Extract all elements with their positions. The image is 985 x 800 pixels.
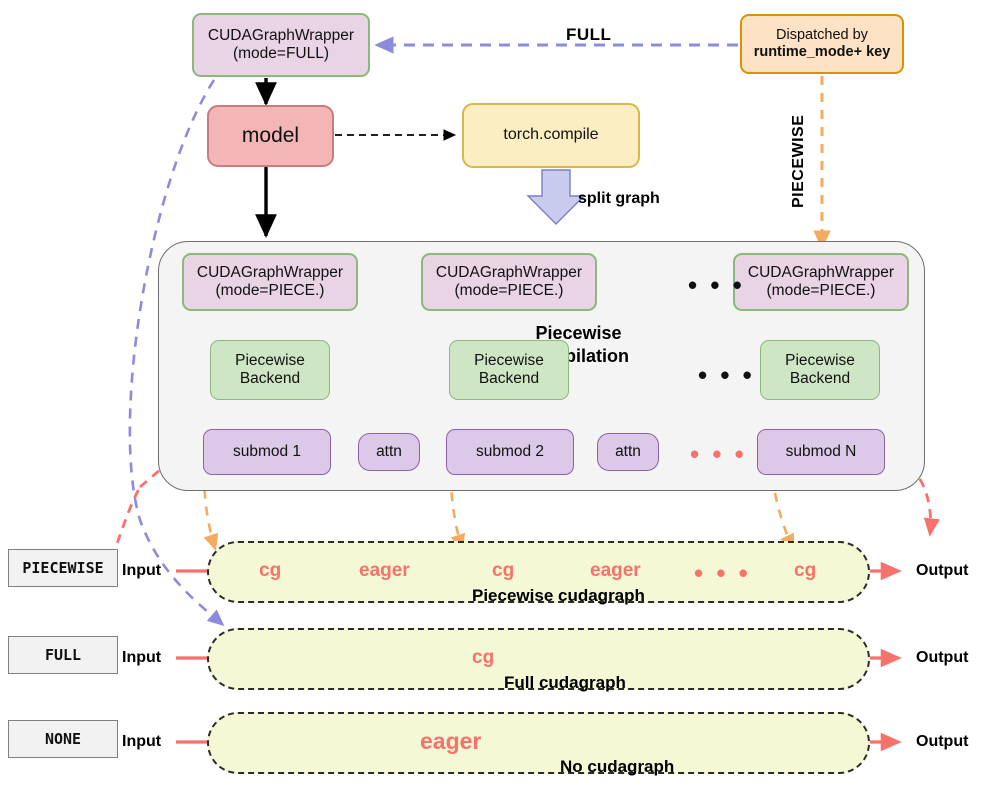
- piecewise-backend-n-box[interactable]: Piecewise Backend: [760, 340, 880, 400]
- submod-n-label: submod N: [786, 443, 857, 461]
- submod-2-box[interactable]: submod 2: [446, 429, 574, 475]
- backend-2-line1: Piecewise: [474, 352, 544, 370]
- diagram-canvas: CUDAGraphWrapper (mode=FULL) model torch…: [0, 0, 985, 800]
- lane-piecewise-step-4: eager: [590, 560, 641, 582]
- attn-1-box[interactable]: attn: [358, 433, 420, 471]
- submod-n-box[interactable]: submod N: [757, 429, 885, 475]
- wrapper-full-line2: (mode=FULL): [233, 45, 329, 63]
- mode-label-none[interactable]: NONE: [8, 720, 118, 758]
- lane-piecewise-output: Output: [916, 562, 968, 580]
- lane-piecewise-step-6: cg: [794, 560, 816, 582]
- torch-compile-box[interactable]: torch.compile: [462, 103, 640, 168]
- lane-piecewise-step-5: • • •: [694, 560, 751, 586]
- lane-piecewise-step-2: eager: [359, 560, 410, 582]
- submod-2-label: submod 2: [476, 443, 544, 461]
- torch-compile-label: torch.compile: [503, 126, 598, 144]
- piecewise-edge-label: PIECEWISE: [790, 115, 808, 208]
- model-box[interactable]: model: [207, 105, 334, 167]
- lane-piecewise-step-3: cg: [492, 560, 514, 582]
- backend-n-line1: Piecewise: [785, 352, 855, 370]
- lane-piecewise-step-1: cg: [259, 560, 281, 582]
- panel-ellipsis-submods: • • •: [690, 441, 747, 467]
- lane-none-input: Input: [122, 733, 161, 751]
- panel-ellipsis-wrappers: • • •: [688, 272, 745, 298]
- mode-label-full[interactable]: FULL: [8, 636, 118, 674]
- dispatch-line2: runtime_mode+ key: [754, 44, 891, 61]
- submod-1-box[interactable]: submod 1: [203, 429, 331, 475]
- attn-2-label: attn: [615, 443, 641, 461]
- lane-none-caption: No cudagraph: [560, 757, 674, 777]
- lane-full-caption: Full cudagraph: [504, 673, 626, 693]
- piecewise-backend-1-box[interactable]: Piecewise Backend: [210, 340, 330, 400]
- backend-2-line2: Backend: [479, 370, 539, 388]
- dispatch-line1: Dispatched by: [776, 27, 868, 44]
- full-edge-label: FULL: [566, 25, 611, 45]
- wrapper-piece-1-line2: (mode=PIECE.): [216, 282, 325, 300]
- submod-1-label: submod 1: [233, 443, 301, 461]
- piecewise-backend-2-box[interactable]: Piecewise Backend: [449, 340, 569, 400]
- mode-label-piecewise[interactable]: PIECEWISE: [8, 549, 118, 587]
- wrapper-piece-2-box[interactable]: CUDAGraphWrapper (mode=PIECE.): [421, 253, 597, 311]
- lane-none-output: Output: [916, 733, 968, 751]
- attn-2-box[interactable]: attn: [597, 433, 659, 471]
- lane-full-step-1: cg: [472, 647, 494, 669]
- split-graph-label: split graph: [578, 190, 660, 208]
- lane-piecewise-input: Input: [122, 562, 161, 580]
- lane-piecewise-caption: Piecewise cudagraph: [472, 586, 645, 606]
- backend-n-line2: Backend: [790, 370, 850, 388]
- lane-none-box: [207, 712, 870, 774]
- wrapper-piece-2-line1: CUDAGraphWrapper: [436, 264, 582, 282]
- wrapper-piece-n-line1: CUDAGraphWrapper: [748, 264, 894, 282]
- wrapper-piece-1-box[interactable]: CUDAGraphWrapper (mode=PIECE.): [182, 253, 358, 311]
- panel-ellipsis-backends: • • •: [698, 362, 755, 388]
- wrapper-piece-1-line1: CUDAGraphWrapper: [197, 264, 343, 282]
- model-label: model: [242, 124, 299, 148]
- wrapper-piece-n-line2: (mode=PIECE.): [767, 282, 876, 300]
- wrapper-piece-n-box[interactable]: CUDAGraphWrapper (mode=PIECE.): [733, 253, 909, 311]
- wrapper-piece-2-line2: (mode=PIECE.): [455, 282, 564, 300]
- attn-1-label: attn: [376, 443, 402, 461]
- backend-1-line2: Backend: [240, 370, 300, 388]
- lane-none-step-1: eager: [420, 728, 481, 755]
- cudagraph-wrapper-full-box[interactable]: CUDAGraphWrapper (mode=FULL): [192, 13, 370, 77]
- lane-full-output: Output: [916, 649, 968, 667]
- lane-full-input: Input: [122, 649, 161, 667]
- backend-1-line1: Piecewise: [235, 352, 305, 370]
- dispatch-box[interactable]: Dispatched by runtime_mode+ key: [740, 14, 904, 74]
- wrapper-full-line1: CUDAGraphWrapper: [208, 27, 354, 45]
